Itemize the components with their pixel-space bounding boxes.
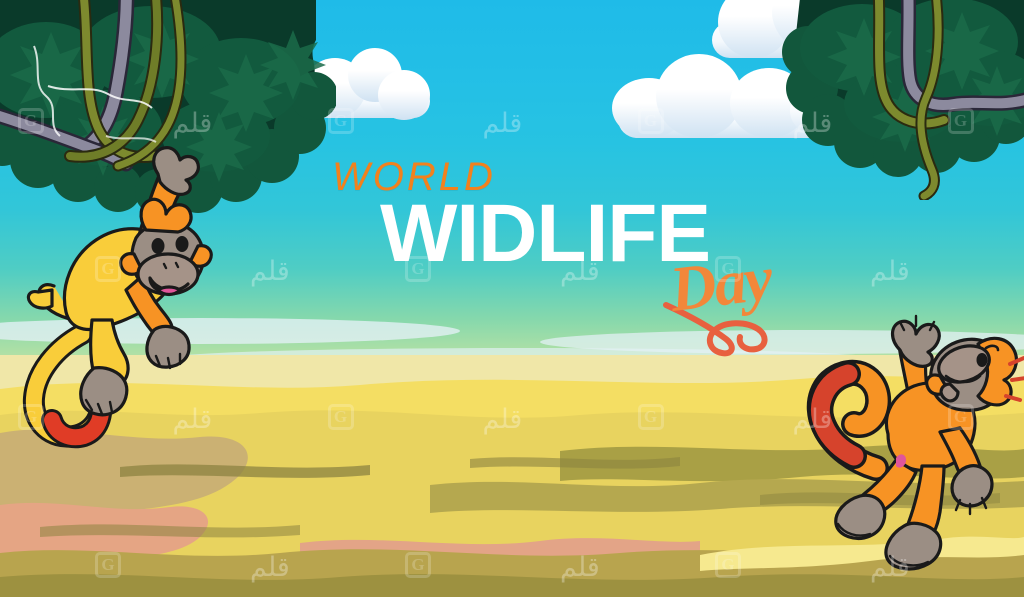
- tree-top-right: [782, 0, 1024, 200]
- monkey-hanging: [8, 134, 218, 454]
- monkey-standing: [764, 268, 1024, 578]
- poster-canvas: WORLD WIDLIFE Day قلمGقلمGقلمGقلمGGقلمGق…: [0, 0, 1024, 597]
